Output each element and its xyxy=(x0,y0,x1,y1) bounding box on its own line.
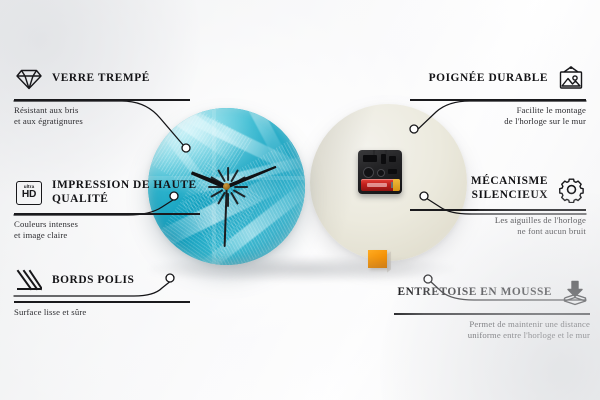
picture-hanger-icon xyxy=(556,64,586,94)
feature-title: IMPRESSION DE HAUTE QUALITÉ xyxy=(52,179,200,207)
foam-spacer-icon xyxy=(560,278,590,308)
divider xyxy=(410,209,586,211)
feature-heading: POIGNÉE DURABLE xyxy=(410,62,586,96)
divider xyxy=(14,213,200,215)
feature-title: MÉCANISME SILENCIEUX xyxy=(410,175,548,203)
hd-badge: ultra HD xyxy=(16,181,42,205)
feature-verre-trempe[interactable]: VERRE TREMPÉ Résistant aux bris et aux é… xyxy=(14,62,190,128)
gear-icon xyxy=(556,174,586,204)
feature-heading: MÉCANISME SILENCIEUX xyxy=(410,172,586,206)
feature-mecanisme-silencieux[interactable]: MÉCANISME SILENCIEUX Les aiguilles de l'… xyxy=(410,172,586,238)
feature-entretoise-en-mousse[interactable]: ENTRETOISE EN MOUSSE Permet de maintenir… xyxy=(394,276,590,342)
divider xyxy=(14,99,190,101)
divider xyxy=(394,313,590,315)
feature-poignee-durable[interactable]: POIGNÉE DURABLE Facilite le montage de xyxy=(410,62,586,128)
feature-callouts: VERRE TREMPÉ Résistant aux bris et aux é… xyxy=(0,0,600,400)
feature-description: Permet de maintenir une distance uniform… xyxy=(394,319,590,342)
feature-title: VERRE TREMPÉ xyxy=(52,72,150,86)
divider xyxy=(14,301,190,303)
feature-heading: ultra HD IMPRESSION DE HAUTE QUALITÉ xyxy=(14,176,200,210)
feature-description: Facilite le montage de l'horloge sur le … xyxy=(410,105,586,128)
feature-title: ENTRETOISE EN MOUSSE xyxy=(397,286,552,300)
feature-title: POIGNÉE DURABLE xyxy=(429,72,548,86)
feature-description: Résistant aux bris et aux égratignures xyxy=(14,105,190,128)
feature-impression-haute-qualite[interactable]: ultra HD IMPRESSION DE HAUTE QUALITÉ Cou… xyxy=(14,176,200,242)
feature-description: Surface lisse et sûre xyxy=(14,307,190,319)
feature-title: BORDS POLIS xyxy=(52,274,134,288)
feature-description: Les aiguilles de l'horloge ne font aucun… xyxy=(410,215,586,238)
feature-description: Couleurs intenses et image claire xyxy=(14,219,200,242)
ultra-hd-badge-icon: ultra HD xyxy=(14,178,44,208)
diamond-icon xyxy=(14,64,44,94)
infographic-canvas: VERRE TREMPÉ Résistant aux bris et aux é… xyxy=(0,0,600,400)
feature-bords-polis[interactable]: BORDS POLIS Surface lisse et sûre xyxy=(14,264,190,318)
divider xyxy=(410,99,586,101)
polished-edges-icon xyxy=(14,266,44,296)
feature-heading: VERRE TREMPÉ xyxy=(14,62,190,96)
feature-heading: BORDS POLIS xyxy=(14,264,190,298)
feature-heading: ENTRETOISE EN MOUSSE xyxy=(394,276,590,310)
